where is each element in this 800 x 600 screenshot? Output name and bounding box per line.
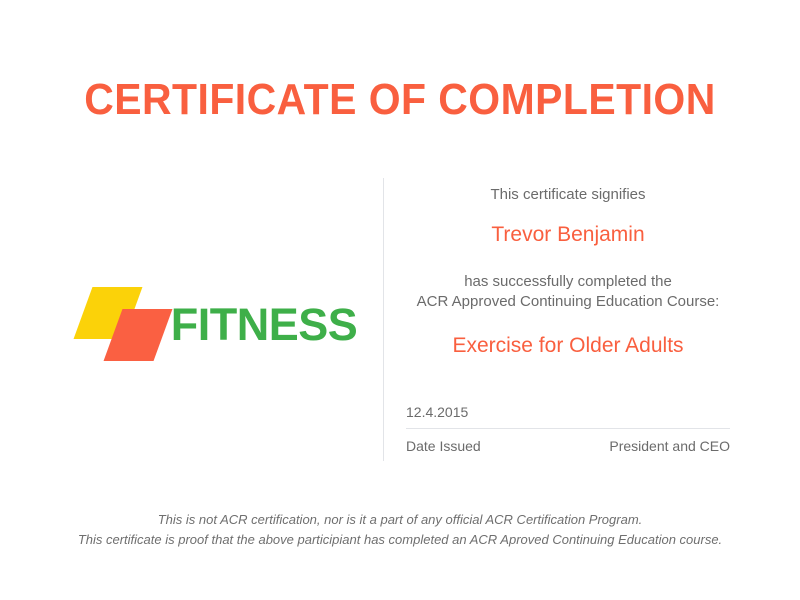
signifies-label: This certificate signifies [406,185,730,205]
certificate-disclaimer: This is not ACR certification, nor is it… [0,510,800,550]
brand-logo: FITNESS [60,175,380,465]
signature-labels: Date Issued President and CEO [406,437,730,455]
completion-line-2: ACR Approved Continuing Education Course… [406,292,730,312]
fitness-logo-icon [83,287,161,361]
date-issued-label: Date Issued [406,437,481,455]
signatory-label: President and CEO [609,437,730,455]
recipient-name: Trevor Benjamin [406,222,730,248]
certificate-details: This certificate signifies Trevor Benjam… [406,175,730,465]
logo-wordmark: FITNESS [171,302,358,347]
completion-line-1: has successfully completed the [406,272,730,292]
certificate-body: FITNESS This certificate signifies Trevo… [0,175,800,465]
vertical-divider [383,178,384,461]
date-issued-value: 12.4.2015 [406,403,730,421]
certificate-title: CERTIFICATE OF COMPLETION [28,76,772,124]
signature-rule [406,428,730,429]
course-name: Exercise for Older Adults [406,333,730,359]
completion-statement: has successfully completed the ACR Appro… [406,272,730,312]
certificate-document: CERTIFICATE OF COMPLETION FITNESS This c… [0,0,800,600]
disclaimer-line-1: This is not ACR certification, nor is it… [0,510,800,530]
disclaimer-line-2: This certificate is proof that the above… [0,530,800,550]
